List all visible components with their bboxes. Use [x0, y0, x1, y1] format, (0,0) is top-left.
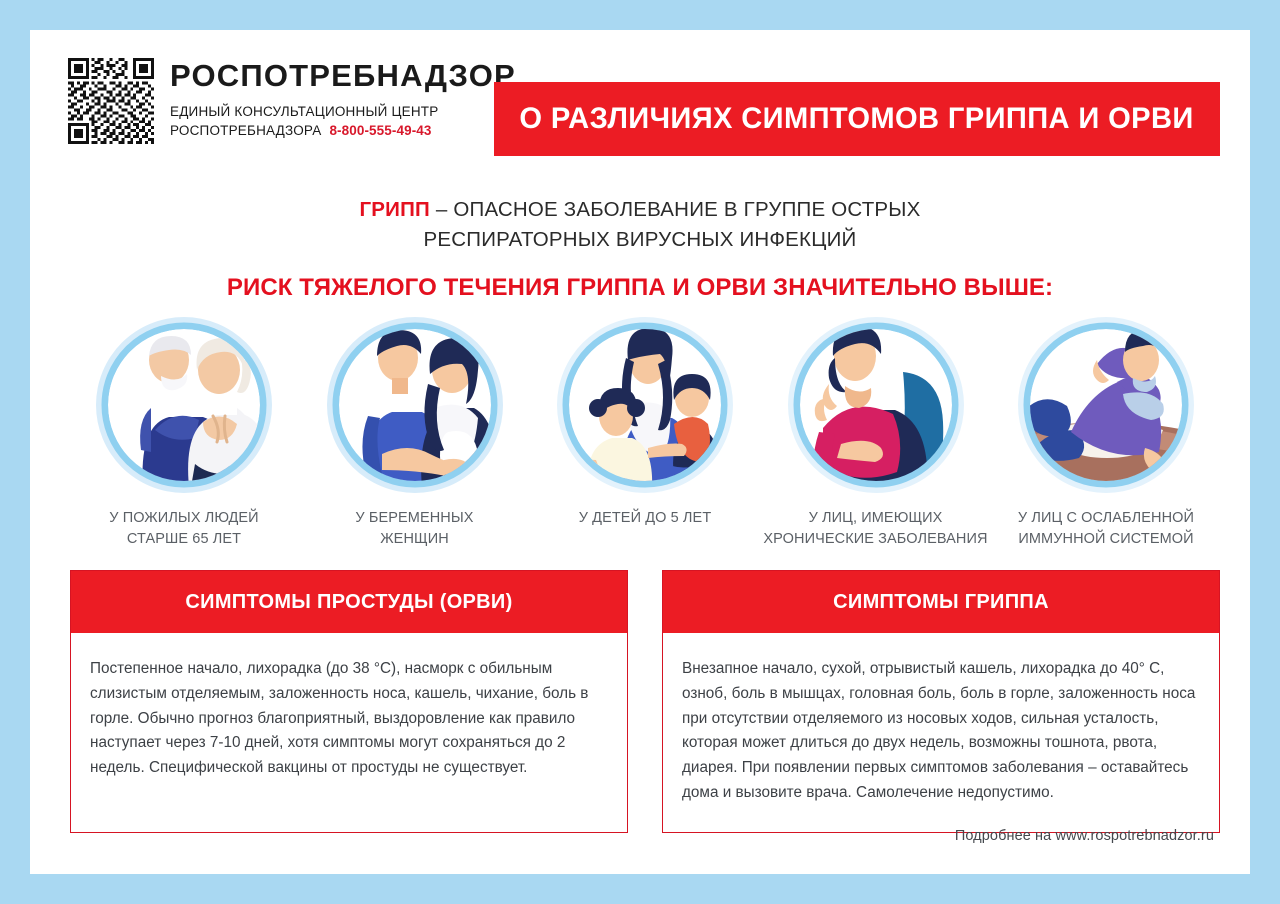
brand-subtitle-line2-label: РОСПОТРЕБНАДЗОРА [170, 123, 321, 138]
risk-group-children: У ДЕТЕЙ ДО 5 ЛЕТ [531, 312, 759, 549]
brand-name: РОСПОТРЕБНАДЗОР [170, 60, 516, 91]
risk-group-pregnant: У БЕРЕМЕННЫХ ЖЕНЩИН [301, 312, 529, 549]
mother-with-children-icon [552, 312, 738, 498]
risk-group-caption: У ПОЖИЛЫХ ЛЮДЕЙ СТАРШЕ 65 ЛЕТ [70, 508, 298, 549]
caption-line-2: ХРОНИЧЕСКИЕ ЗАБОЛЕВАНИЯ [763, 531, 987, 547]
risk-group-caption: У ЛИЦ С ОСЛАБЛЕННОЙ ИММУННОЙ СИСТЕМОЙ [992, 508, 1220, 549]
panel-cold-body: Постепенное начало, лихорадка (до 38 °С)… [71, 633, 627, 807]
man-with-chronic-illness-icon [783, 312, 969, 498]
subtitle-line-2: РЕСПИРАТОРНЫХ ВИРУСНЫХ ИНФЕКЦИЙ [30, 225, 1250, 255]
risk-group-immunity: У ЛИЦ С ОСЛАБЛЕННОЙ ИММУННОЙ СИСТЕМОЙ [992, 312, 1220, 549]
risk-group-caption: У ДЕТЕЙ ДО 5 ЛЕТ [531, 508, 759, 529]
brand-subtitle-line1: ЕДИНЫЙ КОНСУЛЬТАЦИОННЫЙ ЦЕНТР [170, 102, 516, 121]
caption-line-1: У ПОЖИЛЫХ ЛЮДЕЙ [109, 510, 258, 526]
panel-cold-text: Постепенное начало, лихорадка (до 38 °С)… [90, 657, 608, 781]
title-banner: О РАЗЛИЧИЯХ СИМПТОМОВ ГРИППА И ОРВИ [494, 82, 1220, 156]
hotline-phone-number[interactable]: 8-800-555-49-43 [329, 123, 431, 138]
caption-line-1: У БЕРЕМЕННЫХ [355, 510, 473, 526]
caption-line-1: У ЛИЦ, ИМЕЮЩИХ [809, 510, 943, 526]
caption-line-2: СТАРШЕ 65 ЛЕТ [127, 531, 241, 547]
poster-header: РОСПОТРЕБНАДЗОР ЕДИНЫЙ КОНСУЛЬТАЦИОННЫЙ … [30, 30, 1250, 160]
subtitle-line-1: ГРИПП – ОПАСНОЕ ЗАБОЛЕВАНИЕ В ГРУППЕ ОСТ… [30, 195, 1250, 225]
elderly-couple-icon [91, 312, 277, 498]
panel-cold-header: СИМПТОМЫ ПРОСТУДЫ (ОРВИ) [71, 571, 627, 633]
brand-subtitle-line2: РОСПОТРЕБНАДЗОРА8-800-555-49-43 [170, 121, 516, 140]
caption-line-1: У ЛИЦ С ОСЛАБЛЕННОЙ [1018, 510, 1194, 526]
panel-cold-title: СИМПТОМЫ ПРОСТУДЫ (ОРВИ) [185, 591, 512, 614]
caption-line-2: ЖЕНЩИН [380, 531, 449, 547]
panel-flu-title: СИМПТОМЫ ГРИППА [833, 591, 1049, 614]
risk-group-elderly: У ПОЖИЛЫХ ЛЮДЕЙ СТАРШЕ 65 ЛЕТ [70, 312, 298, 549]
subtitle-line-1-rest: – ОПАСНОЕ ЗАБОЛЕВАНИЕ В ГРУППЕ ОСТРЫХ [436, 198, 921, 221]
pregnant-couple-icon [322, 312, 508, 498]
qr-code-icon [68, 58, 154, 144]
brand-text: РОСПОТРЕБНАДЗОР ЕДИНЫЙ КОНСУЛЬТАЦИОННЫЙ … [170, 58, 516, 140]
panel-flu-body: Внезапное начало, сухой, отрывистый каше… [663, 633, 1219, 832]
caption-line-1: У ДЕТЕЙ ДО 5 ЛЕТ [579, 510, 712, 526]
caption-line-2: ИММУННОЙ СИСТЕМОЙ [1018, 531, 1193, 547]
panel-flu-header: СИМПТОМЫ ГРИППА [663, 571, 1219, 633]
poster: РОСПОТРЕБНАДЗОР ЕДИНЫЙ КОНСУЛЬТАЦИОННЫЙ … [30, 30, 1250, 874]
risk-groups-row: У ПОЖИЛЫХ ЛЮДЕЙ СТАРШЕ 65 ЛЕТ [70, 312, 1220, 549]
subtitle-block: ГРИПП – ОПАСНОЕ ЗАБОЛЕВАНИЕ В ГРУППЕ ОСТ… [30, 195, 1250, 302]
panel-flu-text: Внезапное начало, сухой, отрывистый каше… [682, 657, 1200, 806]
man-weak-immunity-icon [1013, 312, 1199, 498]
risk-group-chronic: У ЛИЦ, ИМЕЮЩИХ ХРОНИЧЕСКИЕ ЗАБОЛЕВАНИЯ [762, 312, 990, 549]
panel-cold-symptoms: СИМПТОМЫ ПРОСТУДЫ (ОРВИ) Постепенное нач… [70, 570, 628, 833]
risk-heading: РИСК ТЯЖЕЛОГО ТЕЧЕНИЯ ГРИППА И ОРВИ ЗНАЧ… [30, 274, 1250, 302]
footer-link[interactable]: Подробнее на www.rospotrebnadzor.ru [955, 828, 1214, 844]
risk-group-caption: У БЕРЕМЕННЫХ ЖЕНЩИН [301, 508, 529, 549]
page-title: О РАЗЛИЧИЯХ СИМПТОМОВ ГРИППА И ОРВИ [520, 102, 1194, 136]
panel-flu-symptoms: СИМПТОМЫ ГРИППА Внезапное начало, сухой,… [662, 570, 1220, 833]
symptom-panels-row: СИМПТОМЫ ПРОСТУДЫ (ОРВИ) Постепенное нач… [70, 570, 1220, 833]
brand-logo-block: РОСПОТРЕБНАДЗОР ЕДИНЫЙ КОНСУЛЬТАЦИОННЫЙ … [68, 58, 516, 144]
risk-group-caption: У ЛИЦ, ИМЕЮЩИХ ХРОНИЧЕСКИЕ ЗАБОЛЕВАНИЯ [762, 508, 990, 549]
subtitle-highlight-word: ГРИПП [359, 198, 430, 221]
